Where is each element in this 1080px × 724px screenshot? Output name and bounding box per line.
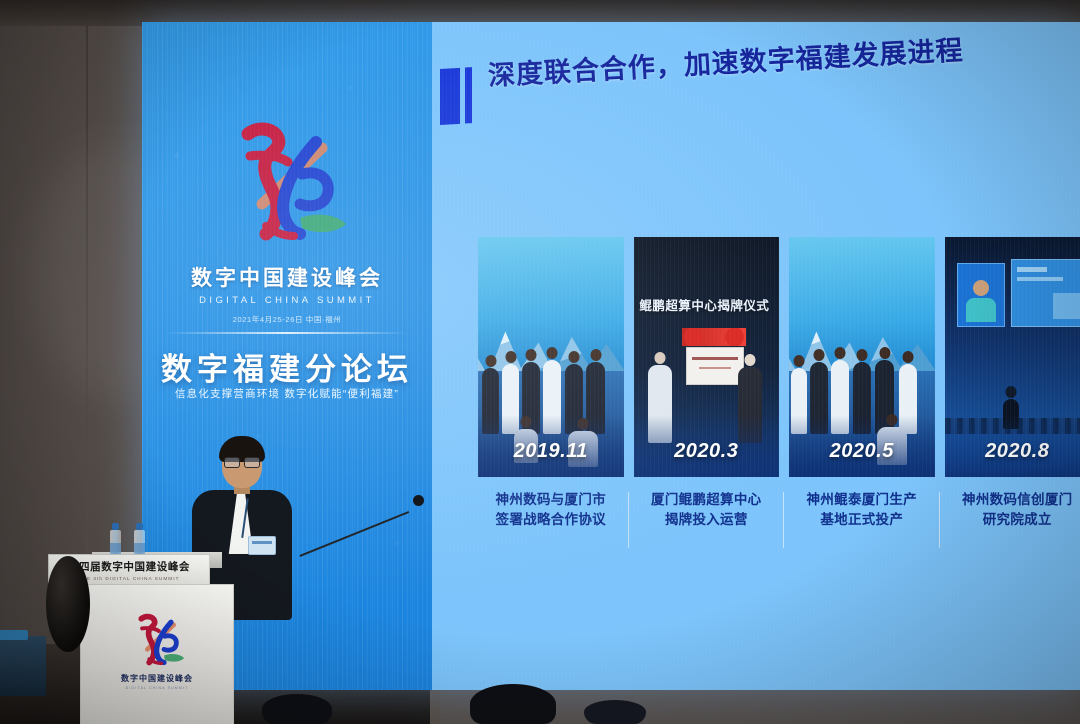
caption-line-1: 神州数码信创厦门 bbox=[945, 490, 1080, 510]
divider bbox=[166, 332, 408, 334]
lectern-logo-cn: 数字中国建设峰会 bbox=[81, 673, 233, 684]
group-signing-photo-icon: 2020.5 bbox=[789, 237, 935, 477]
microphone-icon bbox=[300, 497, 420, 557]
audience-head bbox=[584, 700, 646, 724]
caption-line-1: 神州数码与厦门市 bbox=[478, 490, 624, 510]
timeline-date: 2019.11 bbox=[478, 440, 624, 463]
timeline-date: 2020.3 bbox=[634, 440, 780, 463]
lectern-sign-en: THE 4th DIGITAL CHINA SUMMIT bbox=[79, 576, 180, 581]
lectern-body: 数字中国建设峰会 DIGITAL CHINA SUMMIT bbox=[80, 584, 234, 724]
summit-name-en: DIGITAL CHINA SUMMIT bbox=[142, 295, 432, 306]
timeline-card: 2019.11 bbox=[478, 237, 624, 477]
digital-china-summit-calligraphy-logo bbox=[122, 607, 192, 669]
caption-separator bbox=[783, 492, 784, 548]
summit-name-cn: 数字中国建设峰会 bbox=[142, 262, 432, 292]
caption-separator bbox=[939, 492, 940, 548]
caption-line-2: 签署战略合作协议 bbox=[478, 510, 624, 530]
lectern-logo-caption: 数字中国建设峰会 DIGITAL CHINA SUMMIT bbox=[81, 673, 233, 690]
slide-title: 深度联合合作，加速数字福建发展进程 bbox=[487, 28, 964, 93]
timeline-captions: 神州数码与厦门市 签署战略合作协议 厦门鲲鹏超算中心 揭牌投入运营 神州鲲泰厦门… bbox=[478, 490, 1080, 560]
timeline-card: 2020.5 bbox=[789, 237, 935, 477]
slide-header: 深度联合合作，加速数字福建发展进程 bbox=[440, 58, 1080, 128]
conference-badge-icon bbox=[248, 536, 276, 555]
stage-speaker-cabinet bbox=[46, 556, 90, 652]
lectern-sign-cn: 第四届数字中国建设峰会 bbox=[68, 559, 190, 574]
stage-presentation-photo-icon: 2020.8 bbox=[945, 237, 1080, 477]
digital-china-summit-calligraphy-logo bbox=[204, 108, 364, 248]
timeline-date: 2020.5 bbox=[789, 440, 935, 463]
timeline-card: 2020.8 bbox=[945, 237, 1080, 477]
timeline-caption: 神州鲲泰厦门生产 基地正式投产 bbox=[789, 490, 935, 560]
caption-line-2: 揭牌投入运营 bbox=[634, 510, 780, 530]
audience-head bbox=[262, 694, 332, 724]
conference-photo-scene: 数字中国建设峰会 DIGITAL CHINA SUMMIT 2021年4月25-… bbox=[0, 0, 1080, 724]
double-bar-accent-icon bbox=[440, 67, 474, 125]
lectern-logo-en: DIGITAL CHINA SUMMIT bbox=[81, 686, 233, 690]
timeline-date: 2020.8 bbox=[945, 440, 1080, 463]
forum-title: 数字福建分论坛 bbox=[142, 344, 432, 389]
caption-line-1: 神州鲲泰厦门生产 bbox=[789, 490, 935, 510]
plaque-unveiling-photo-icon: 鲲鹏超算中心揭牌仪式 2020.3 bbox=[634, 237, 780, 477]
forum-subtitle: 信息化支撑营商环境 数字化赋能“便利福建” bbox=[142, 386, 432, 401]
caption-line-2: 基地正式投产 bbox=[789, 510, 935, 530]
timeline-caption: 厦门鲲鹏超算中心 揭牌投入运营 bbox=[634, 490, 780, 560]
caption-line-1: 厦门鲲鹏超算中心 bbox=[634, 490, 780, 510]
signing-ceremony-photo-icon: 2019.11 bbox=[478, 237, 624, 477]
photo-banner-text: 鲲鹏超算中心揭牌仪式 bbox=[639, 295, 776, 314]
caption-separator bbox=[628, 492, 629, 548]
caption-line-2: 研究院成立 bbox=[945, 510, 1080, 530]
eyeglasses-icon bbox=[224, 457, 260, 466]
summit-logo-caption: 数字中国建设峰会 DIGITAL CHINA SUMMIT 2021年4月25-… bbox=[142, 262, 432, 325]
timeline-caption: 神州数码与厦门市 签署战略合作协议 bbox=[478, 490, 624, 560]
audience-head bbox=[470, 684, 556, 724]
lectern: 第四届数字中国建设峰会 THE 4th DIGITAL CHINA SUMMIT… bbox=[92, 552, 222, 724]
stage-equipment-case bbox=[0, 636, 46, 696]
timeline-card: 鲲鹏超算中心揭牌仪式 2020.3 bbox=[634, 237, 780, 477]
timeline-photo-strip: 2019.11 鲲鹏超算中心揭牌仪式 2020.3 bbox=[478, 237, 1080, 477]
summit-event-date: 2021年4月25-26日 中国·福州 bbox=[142, 314, 432, 325]
timeline-caption: 神州数码信创厦门 研究院成立 bbox=[945, 490, 1080, 560]
slide-content: 深度联合合作，加速数字福建发展进程 bbox=[432, 22, 1080, 690]
